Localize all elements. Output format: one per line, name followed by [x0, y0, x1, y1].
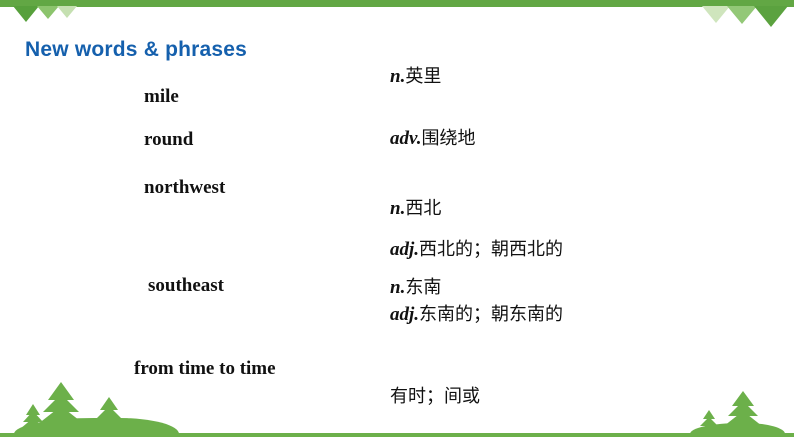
slide: New words & phrases mile n.英里 round adv.… [0, 0, 794, 447]
part-of-speech: n. [390, 66, 405, 87]
page-title: New words & phrases [25, 38, 247, 62]
bottom-right-large-pine-tree-icon [742, 390, 744, 434]
definition-line: 有时；间或 [390, 384, 480, 411]
small-pine-tree-icon [32, 402, 34, 434]
top-left-medium-triangle-icon [37, 6, 59, 19]
bottom-accent-line [0, 433, 794, 437]
part-of-speech: adj. [390, 304, 419, 325]
definition-meaning: 围绕地 [421, 128, 475, 149]
top-left-light-triangle-icon [57, 6, 77, 18]
vocabulary-definitions: adv.围绕地 [390, 126, 475, 153]
definition-meaning: 东南 [405, 277, 441, 298]
vocabulary-term: mile [144, 86, 179, 108]
part-of-speech: n. [390, 277, 405, 298]
definition-meaning: 西北的；朝西北的 [419, 239, 563, 260]
definition-meaning: 英里 [405, 66, 441, 87]
vocabulary-term: round [144, 129, 193, 151]
definition-meaning: 有时；间或 [390, 386, 480, 407]
definition-meaning: 东南的；朝东南的 [419, 304, 563, 325]
top-right-dark-triangle-icon [754, 6, 788, 27]
part-of-speech: adv. [390, 128, 421, 149]
definition-meaning: 西北 [405, 198, 441, 219]
top-right-medium-triangle-icon [727, 6, 757, 24]
definition-line: n.东南 [390, 275, 563, 302]
vocabulary-term: northwest [144, 177, 225, 199]
bottom-right-small-pine-tree-icon [708, 408, 710, 434]
top-left-dark-triangle-icon [13, 6, 39, 22]
top-accent-bar [0, 0, 794, 7]
part-of-speech: n. [390, 198, 405, 219]
definition-line: adj.西北的；朝西北的 [390, 237, 563, 264]
top-right-light-triangle-icon [702, 6, 730, 23]
vocabulary-term: from time to time [134, 358, 276, 380]
vocabulary-definitions: n.英里 [390, 64, 441, 91]
definition-line: adj.东南的；朝东南的 [390, 302, 563, 329]
part-of-speech: adj. [390, 239, 419, 260]
vocabulary-definitions: 有时；间或 [390, 384, 480, 411]
definition-line: n.英里 [390, 64, 441, 91]
large-pine-tree-icon [60, 382, 62, 434]
medium-pine-tree-icon [108, 396, 110, 434]
vocabulary-term: southeast [148, 275, 224, 297]
definition-line: n.西北 [390, 196, 563, 223]
definition-line: adv.围绕地 [390, 126, 475, 153]
vocabulary-definitions: n.西北 adj.西北的；朝西北的 [390, 196, 563, 264]
vocabulary-definitions: n.东南 adj.东南的；朝东南的 [390, 275, 563, 329]
